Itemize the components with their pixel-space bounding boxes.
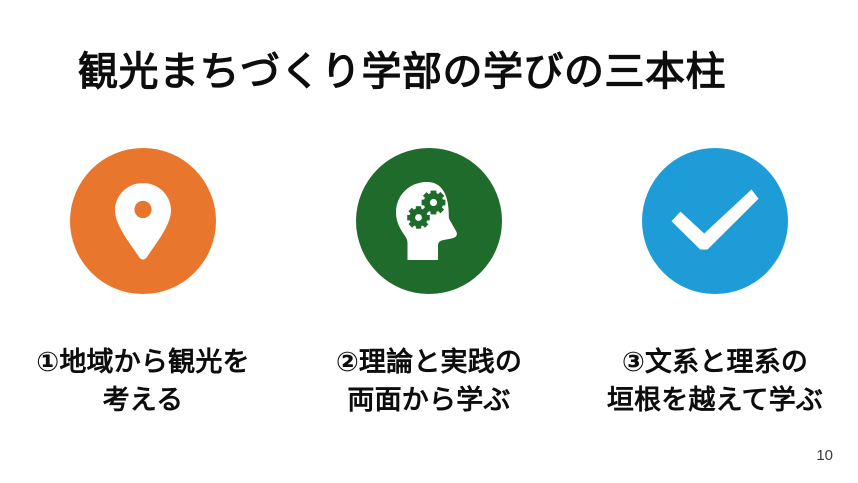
pillar-caption-1-line1: ①地域から観光を (36, 344, 249, 382)
slide-canvas: 観光まちづくり学部の学びの三本柱 ①地域から観光を 考える (0, 0, 858, 483)
pillar-list: ①地域から観光を 考える (0, 148, 858, 420)
pillar-caption-3-line1: ③文系と理系の (607, 344, 823, 382)
pillar-caption-2: ②理論と実践の 両面から学ぶ (336, 344, 522, 420)
pillar-icon-circle-1 (70, 148, 216, 294)
pillar-caption-3-line2: 垣根を越えて学ぶ (607, 382, 823, 420)
page-title: 観光まちづくり学部の学びの三本柱 (78, 48, 778, 96)
pillar-item-3: ③文系と理系の 垣根を越えて学ぶ (572, 148, 858, 420)
pillar-caption-2-line2: 両面から学ぶ (336, 382, 522, 420)
pillar-icon-circle-3 (642, 148, 788, 294)
pillar-caption-1-line2: 考える (36, 382, 249, 420)
location-pin-icon (112, 181, 174, 261)
head-with-gears-icon (392, 181, 466, 261)
pillar-caption-3: ③文系と理系の 垣根を越えて学ぶ (607, 344, 823, 420)
pillar-item-2: ②理論と実践の 両面から学ぶ (286, 148, 572, 420)
pillar-icon-circle-2 (356, 148, 502, 294)
pillar-item-1: ①地域から観光を 考える (0, 148, 286, 420)
checkmark-icon (669, 186, 761, 256)
pillar-caption-1: ①地域から観光を 考える (36, 344, 249, 420)
pillar-caption-2-line1: ②理論と実践の (336, 344, 522, 382)
page-number: 10 (816, 447, 833, 465)
